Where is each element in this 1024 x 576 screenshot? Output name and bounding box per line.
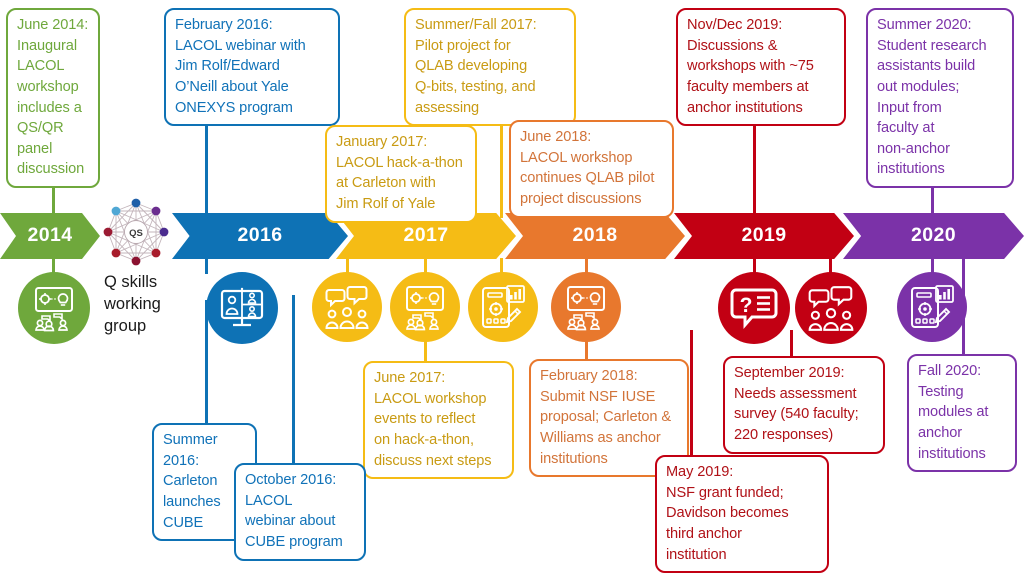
icon-circle-2018[interactable] bbox=[551, 272, 621, 342]
timeline-segment-2016[interactable]: 2016 bbox=[172, 213, 348, 259]
svg-text:?: ? bbox=[740, 294, 753, 317]
presentation-gear-bulb-people-icon bbox=[400, 282, 450, 332]
discussion-group-icon bbox=[805, 282, 857, 334]
timeline-segment-2020[interactable]: 2020 bbox=[843, 213, 1024, 259]
qs-network-logo: QS bbox=[100, 196, 172, 268]
connector-icon-2016 bbox=[205, 258, 208, 274]
callout-fall-2020[interactable]: Fall 2020: Testing modules at anchor ins… bbox=[907, 354, 1017, 472]
q-skills-working-group-label: Q skills working group bbox=[104, 272, 194, 338]
connector-nov-dec-2019 bbox=[753, 116, 756, 218]
callout-summer-2020[interactable]: Summer 2020: Student research assistants… bbox=[866, 8, 1014, 188]
icon-circle-2017a[interactable] bbox=[312, 272, 382, 342]
timeline-year-2020: 2020 bbox=[911, 224, 956, 247]
callout-october-2016[interactable]: October 2016: LACOL webinar about CUBE p… bbox=[234, 463, 366, 561]
connector-february-2016 bbox=[205, 118, 208, 218]
icon-circle-2014[interactable] bbox=[18, 272, 90, 344]
timeline-year-2019: 2019 bbox=[742, 224, 787, 247]
analytics-testing-icon bbox=[907, 282, 957, 332]
callout-january-2017[interactable]: January 2017: LACOL hack-a-thon at Carle… bbox=[325, 125, 477, 223]
connector-summer-fall-2017 bbox=[500, 110, 503, 218]
connector-october-2016 bbox=[292, 295, 295, 470]
timeline-segment-2014[interactable]: 2014 bbox=[0, 213, 100, 259]
timeline-segment-2018[interactable]: 2018 bbox=[505, 213, 685, 259]
svg-text:QS: QS bbox=[129, 228, 143, 239]
discussion-group-icon bbox=[322, 282, 372, 332]
callout-nov-dec-2019[interactable]: Nov/Dec 2019: Discussions & workshops wi… bbox=[676, 8, 846, 126]
callout-may-2019[interactable]: May 2019: NSF grant funded; Davidson bec… bbox=[655, 455, 829, 573]
icon-circle-2017b[interactable] bbox=[390, 272, 460, 342]
timeline-diagram: 2014 2016 2017 2018 2019 2020 bbox=[0, 0, 1024, 576]
icon-circle-2020[interactable] bbox=[897, 272, 967, 342]
timeline-year-2018: 2018 bbox=[573, 224, 618, 247]
icon-circle-2019a[interactable]: ? bbox=[718, 272, 790, 344]
connector-may-2019-v bbox=[690, 330, 693, 462]
connector-september-2019 bbox=[790, 330, 793, 357]
callout-february-2016[interactable]: February 2016: LACOL webinar with Jim Ro… bbox=[164, 8, 340, 126]
timeline-year-2014: 2014 bbox=[28, 224, 73, 247]
survey-question-bubble-icon: ? bbox=[728, 282, 780, 334]
callout-june-2014[interactable]: June 2014: Inaugural LACOL workshop incl… bbox=[6, 8, 100, 188]
presentation-gear-bulb-people-icon bbox=[561, 282, 611, 332]
connector-summer-2020 bbox=[931, 184, 934, 218]
callout-june-2017[interactable]: June 2017: LACOL workshop events to refl… bbox=[363, 361, 514, 479]
presentation-gear-bulb-people-icon bbox=[29, 283, 79, 333]
timeline-segment-2019[interactable]: 2019 bbox=[674, 213, 854, 259]
icon-circle-2016[interactable] bbox=[206, 272, 278, 344]
timeline-year-2017: 2017 bbox=[404, 224, 449, 247]
callout-summer-fall-2017[interactable]: Summer/Fall 2017: Pilot project for QLAB… bbox=[404, 8, 576, 126]
callout-june-2018[interactable]: June 2018: LACOL workshop continues QLAB… bbox=[509, 120, 674, 218]
icon-circle-2019b[interactable] bbox=[795, 272, 867, 344]
timeline-year-2016: 2016 bbox=[238, 224, 283, 247]
callout-september-2019[interactable]: September 2019: Needs assessment survey … bbox=[723, 356, 885, 454]
icon-circle-2017c[interactable] bbox=[468, 272, 538, 342]
analytics-testing-icon bbox=[478, 282, 528, 332]
video-conference-icon bbox=[217, 283, 267, 333]
